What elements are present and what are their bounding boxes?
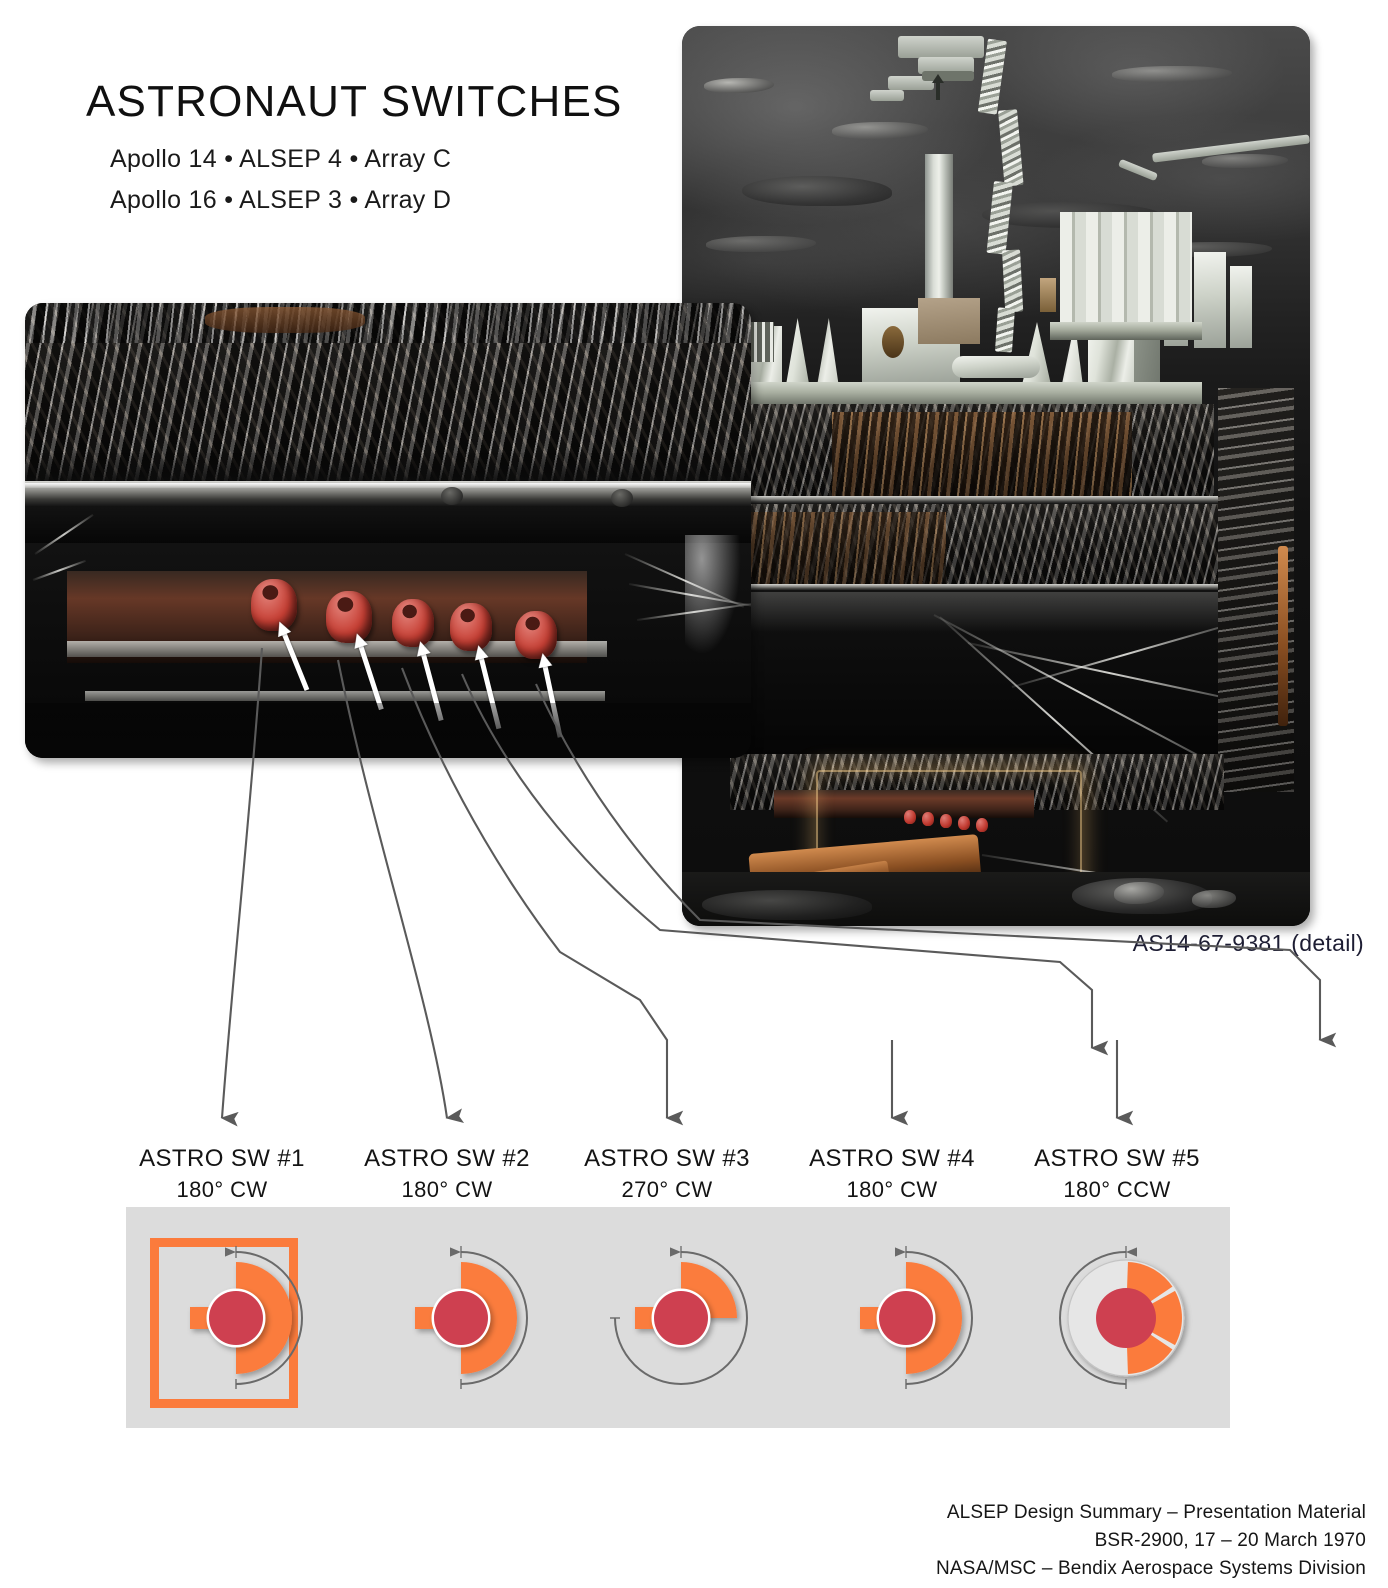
switch-label-4-rotation: 180° CW [772, 1176, 1012, 1205]
subtitle-line-2: Apollo 16 • ALSEP 3 • Array D [110, 185, 706, 216]
footer-line-3: NASA/MSC – Bendix Aerospace Systems Divi… [0, 1555, 1366, 1583]
switch-label-4-name: ASTRO SW #4 [809, 1145, 975, 1172]
photo-caption: AS14-67-9381 (detail) [0, 930, 1364, 957]
page-title: ASTRONAUT SWITCHES [86, 78, 706, 126]
subtitle-line-1: Apollo 14 • ALSEP 4 • Array C [110, 144, 706, 175]
switch-label-5-name: ASTRO SW #5 [1034, 1145, 1200, 1172]
switch-knob-4 [450, 603, 492, 651]
switch-label-2-rotation: 180° CW [327, 1176, 567, 1205]
switch-1-diagram [156, 1238, 316, 1398]
switch-label-3-name: ASTRO SW #3 [584, 1145, 750, 1172]
switch-cell-2[interactable] [351, 1207, 571, 1428]
switch-label-1: ASTRO SW #1 180° CW [102, 1143, 342, 1205]
switch-diagram-panel [126, 1207, 1230, 1428]
switch-2-diagram [381, 1238, 541, 1398]
switch-3-diagram [601, 1238, 761, 1398]
switch-label-3: ASTRO SW #3 270° CW [547, 1143, 787, 1205]
switch-5-diagram [1046, 1238, 1206, 1398]
switch-knob-5 [515, 611, 557, 659]
footer: ALSEP Design Summary – Presentation Mate… [0, 1499, 1366, 1583]
title-block: ASTRONAUT SWITCHES Apollo 14 • ALSEP 4 •… [86, 78, 706, 216]
switch-label-3-rotation: 270° CW [547, 1176, 787, 1205]
inset-detail-photograph [25, 303, 751, 758]
switch-label-1-rotation: 180° CW [102, 1176, 342, 1205]
switch-label-2-name: ASTRO SW #2 [364, 1145, 530, 1172]
switch-label-1-name: ASTRO SW #1 [139, 1145, 305, 1172]
switch-cell-4[interactable] [796, 1207, 1016, 1428]
footer-line-1: ALSEP Design Summary – Presentation Mate… [0, 1499, 1366, 1527]
switch-label-5: ASTRO SW #5 180° CCW [997, 1143, 1237, 1205]
switch-knob-3 [392, 599, 434, 647]
switch-4-diagram [826, 1238, 986, 1398]
footer-line-2: BSR-2900, 17 – 20 March 1970 [0, 1527, 1366, 1555]
main-photograph [682, 26, 1310, 926]
switch-label-4: ASTRO SW #4 180° CW [772, 1143, 1012, 1205]
switch-label-5-rotation: 180° CCW [997, 1176, 1237, 1205]
switch-cell-5[interactable] [1016, 1207, 1236, 1428]
switch-label-2: ASTRO SW #2 180° CW [327, 1143, 567, 1205]
switch-cell-3[interactable] [571, 1207, 791, 1428]
switch-cell-1[interactable] [126, 1207, 346, 1428]
